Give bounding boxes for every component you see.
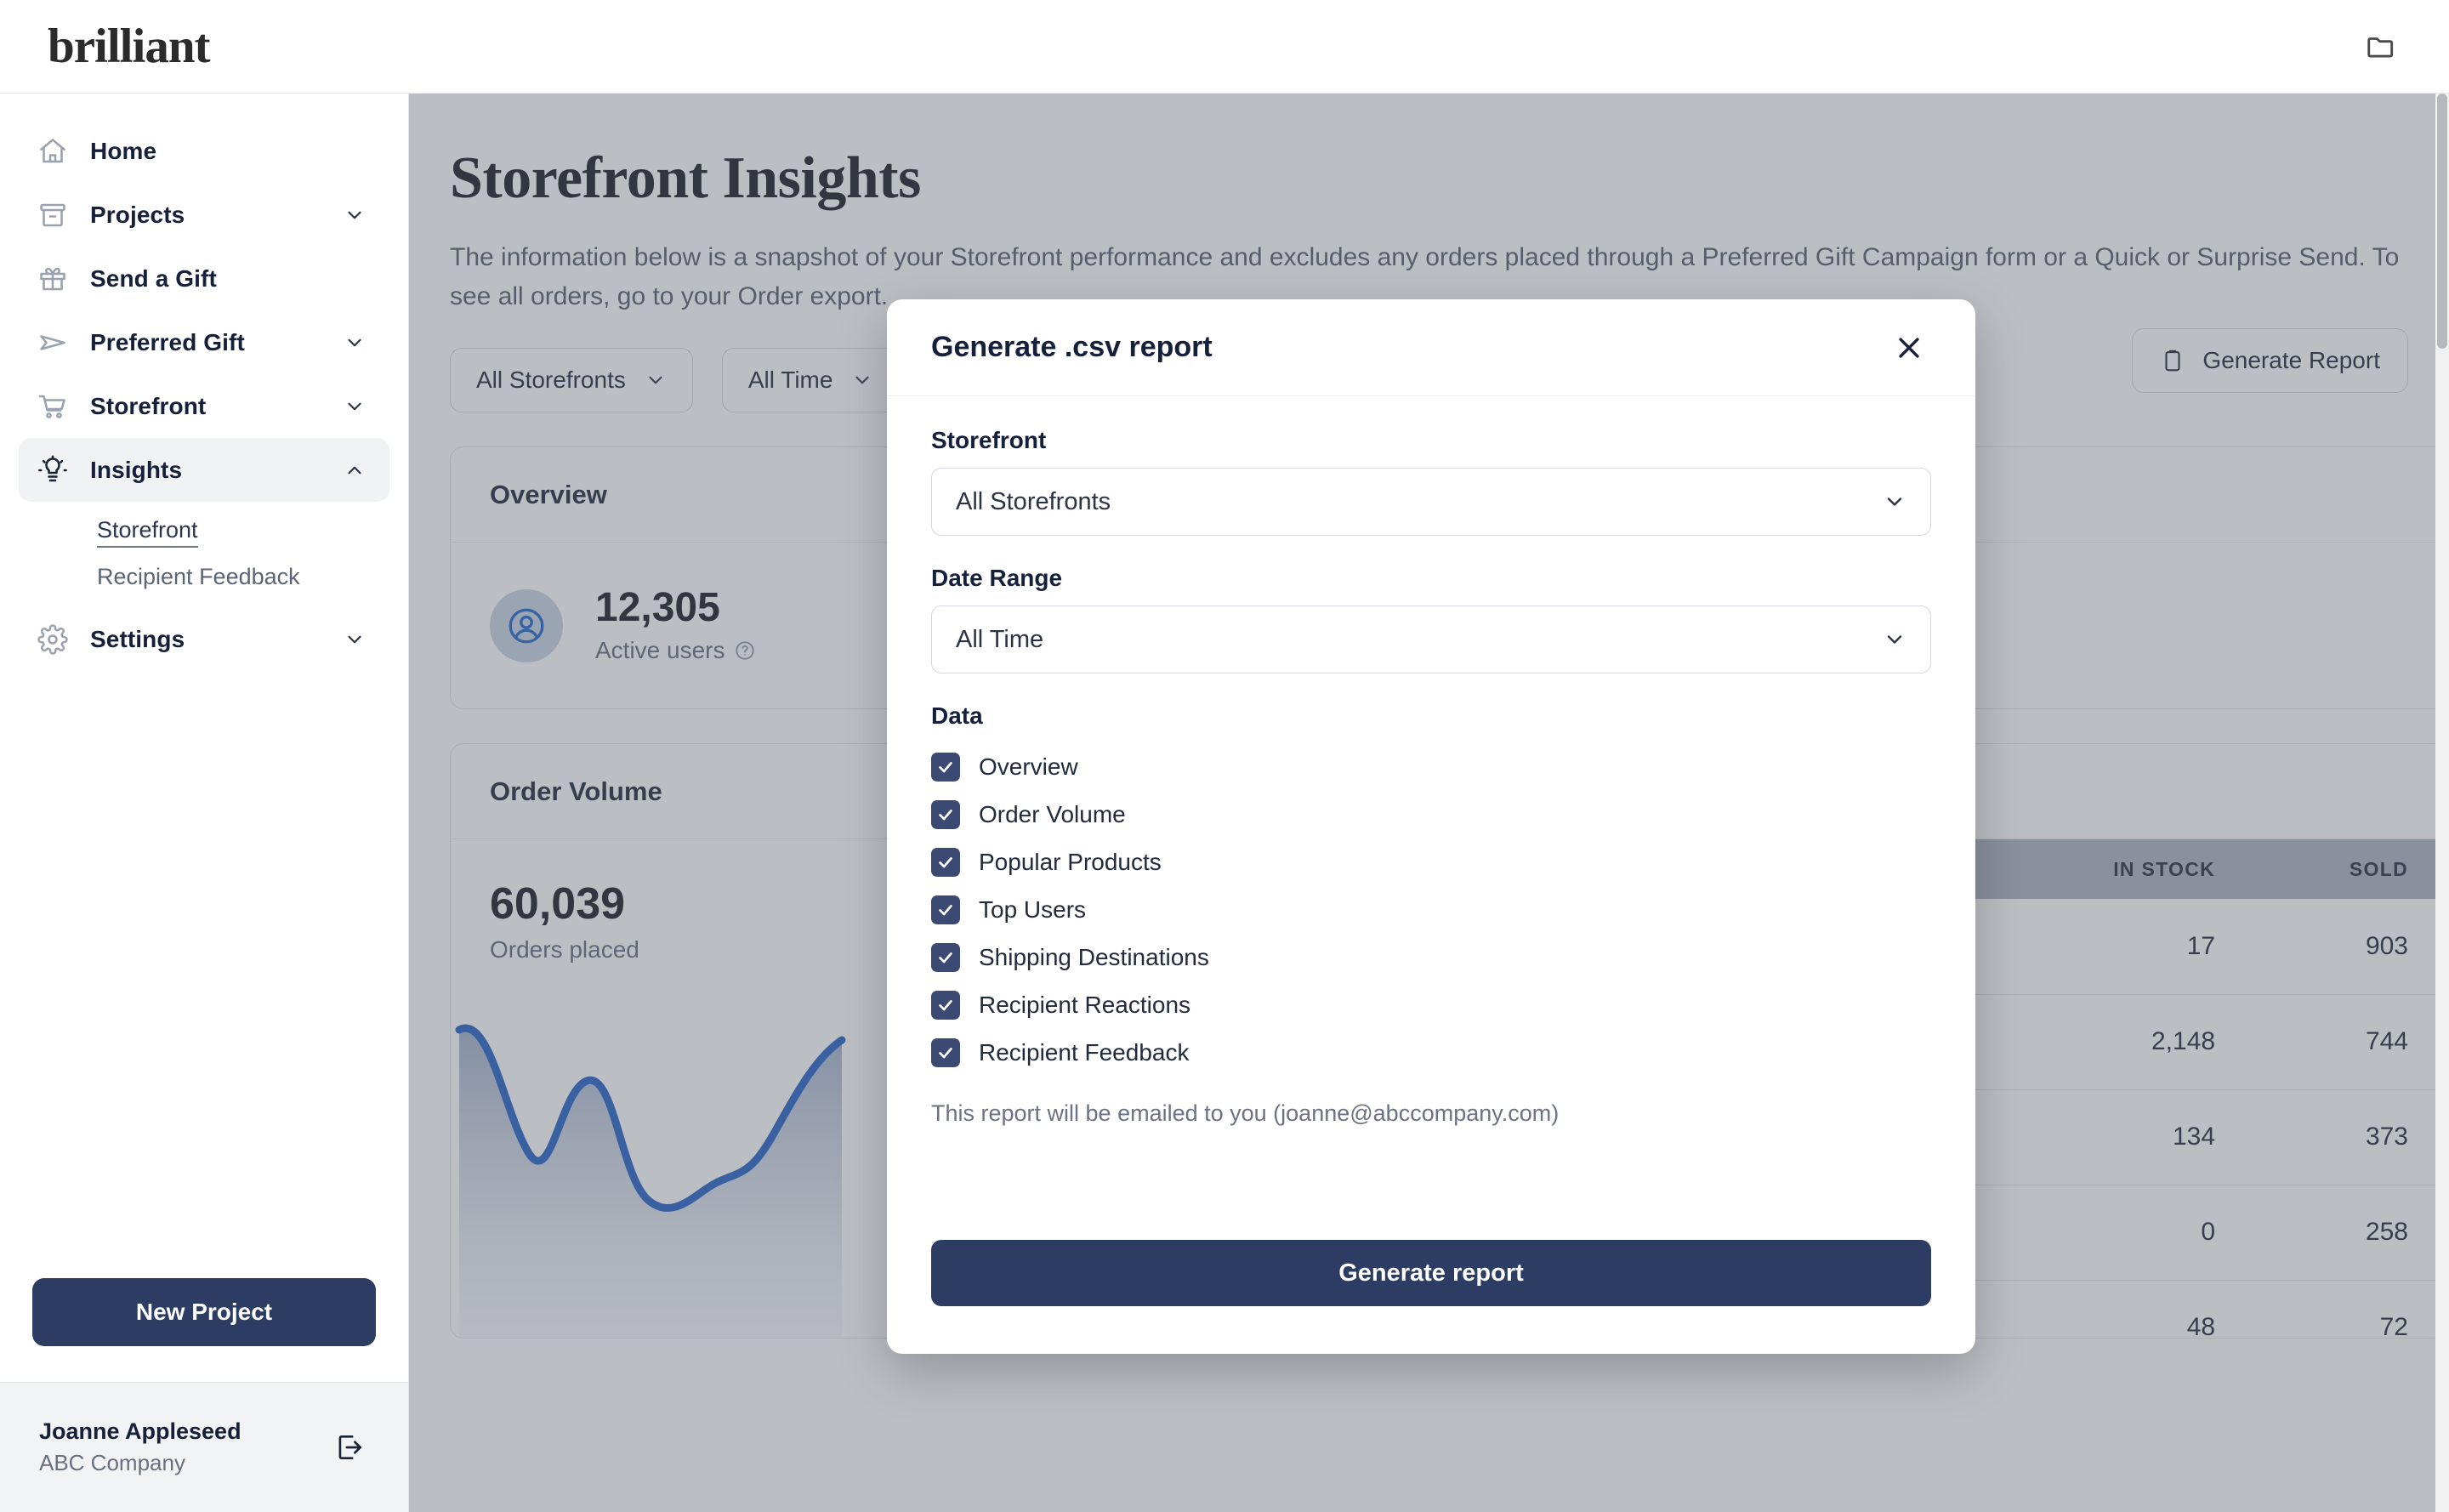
app-logo: brilliant [48, 22, 210, 71]
checkbox-checked-icon [931, 1038, 960, 1067]
user-organization: ABC Company [39, 1450, 241, 1476]
gift-icon [37, 264, 75, 294]
top-bar: brilliant [0, 0, 2449, 94]
logout-icon[interactable] [327, 1424, 372, 1470]
sidebar-item-label: Settings [90, 626, 342, 653]
sidebar-item-send-a-gift[interactable]: Send a Gift [19, 247, 389, 310]
sidebar-item-storefront[interactable]: Storefront [19, 374, 389, 438]
generate-report-submit-button[interactable]: Generate report [931, 1240, 1931, 1306]
date-range-select-value: All Time [956, 626, 1043, 654]
data-section-label: Data [931, 702, 1931, 730]
checkbox-label: Recipient Feedback [979, 1039, 1189, 1066]
sidebar-item-insights[interactable]: Insights [19, 438, 389, 502]
checkbox-label: Order Volume [979, 801, 1126, 828]
sidebar-item-label: Projects [90, 202, 342, 229]
sidebar-subitem-label: Storefront [97, 517, 198, 548]
checkbox-checked-icon [931, 943, 960, 972]
insights-subnav: Storefront Recipient Feedback [19, 502, 389, 607]
new-project-button[interactable]: New Project [32, 1278, 376, 1346]
checkbox-label: Shipping Destinations [979, 944, 1209, 971]
checkbox-checked-icon [931, 848, 960, 877]
sidebar: Home Projects Send a Gift [0, 94, 409, 1512]
scrollbar-thumb[interactable] [2437, 94, 2447, 349]
email-note: This report will be emailed to you (joan… [931, 1100, 1931, 1127]
storefront-field-label: Storefront [931, 427, 1931, 454]
modal-title: Generate .csv report [931, 331, 1213, 364]
generate-csv-report-modal: Generate .csv report Storefront All Stor… [887, 299, 1975, 1354]
lightbulb-icon [37, 455, 75, 486]
home-icon [37, 136, 75, 167]
sidebar-item-projects[interactable]: Projects [19, 183, 389, 247]
date-range-select[interactable]: All Time [931, 605, 1931, 674]
checkbox-label: Overview [979, 753, 1078, 781]
sidebar-item-label: Home [90, 138, 367, 165]
chevron-down-icon[interactable] [342, 332, 367, 354]
sidebar-subitem-storefront[interactable]: Storefront [19, 507, 389, 554]
sidebar-subitem-label: Recipient Feedback [97, 564, 300, 589]
chevron-down-icon[interactable] [342, 204, 367, 226]
user-bar[interactable]: Joanne Appleseed ABC Company [0, 1382, 408, 1512]
checkbox-shipping-destinations[interactable]: Shipping Destinations [931, 934, 1931, 981]
storefront-select-value: All Storefronts [956, 488, 1111, 516]
checkbox-checked-icon [931, 895, 960, 924]
checkbox-recipient-feedback[interactable]: Recipient Feedback [931, 1029, 1931, 1077]
modal-header: Generate .csv report [887, 299, 1975, 396]
checkbox-overview[interactable]: Overview [931, 743, 1931, 791]
chevron-down-icon [1883, 628, 1906, 651]
user-name: Joanne Appleseed [39, 1418, 241, 1445]
checkbox-checked-icon [931, 800, 960, 829]
checkbox-order-volume[interactable]: Order Volume [931, 791, 1931, 838]
chevron-down-icon[interactable] [342, 628, 367, 651]
checkbox-label: Recipient Reactions [979, 992, 1190, 1019]
user-info: Joanne Appleseed ABC Company [39, 1418, 241, 1476]
box-icon [37, 200, 75, 230]
date-range-field-label: Date Range [931, 565, 1931, 592]
folder-icon[interactable] [2357, 23, 2405, 71]
send-icon [37, 327, 75, 358]
checkbox-popular-products[interactable]: Popular Products [931, 838, 1931, 886]
sidebar-item-label: Send a Gift [90, 265, 367, 293]
checkbox-checked-icon [931, 753, 960, 782]
sidebar-item-home[interactable]: Home [19, 119, 389, 183]
sidebar-item-label: Storefront [90, 393, 342, 420]
cart-icon [37, 391, 75, 422]
checkbox-recipient-reactions[interactable]: Recipient Reactions [931, 981, 1931, 1029]
checkbox-label: Popular Products [979, 849, 1162, 876]
sidebar-subitem-recipient-feedback[interactable]: Recipient Feedback [19, 554, 389, 600]
chevron-down-icon[interactable] [342, 395, 367, 418]
modal-body: Storefront All Storefronts Date Range Al… [887, 396, 1975, 1127]
new-project-wrapper: New Project [0, 1278, 408, 1382]
checkbox-label: Top Users [979, 896, 1086, 924]
sidebar-item-label: Insights [90, 457, 342, 484]
sidebar-item-preferred-gift[interactable]: Preferred Gift [19, 310, 389, 374]
sidebar-nav: Home Projects Send a Gift [0, 94, 408, 1278]
gear-icon [37, 624, 75, 655]
storefront-select[interactable]: All Storefronts [931, 468, 1931, 536]
sidebar-item-label: Preferred Gift [90, 329, 342, 356]
close-icon[interactable] [1887, 326, 1931, 370]
chevron-up-icon[interactable] [342, 459, 367, 481]
chevron-down-icon [1883, 490, 1906, 514]
checkbox-checked-icon [931, 991, 960, 1020]
page-scrollbar[interactable] [2435, 94, 2449, 1512]
sidebar-item-settings[interactable]: Settings [19, 607, 389, 671]
checkbox-top-users[interactable]: Top Users [931, 886, 1931, 934]
